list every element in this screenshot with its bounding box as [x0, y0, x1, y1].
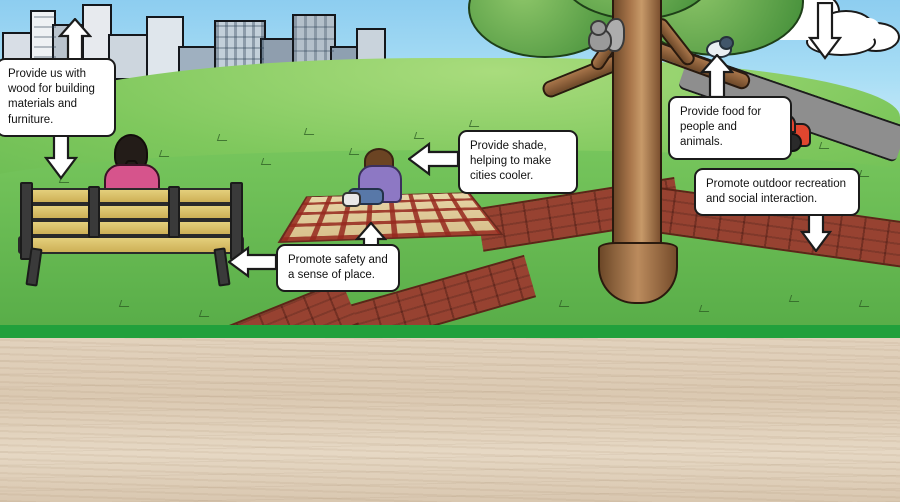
arrow-left-to-bench [228, 246, 278, 278]
callout-recreation[interactable]: Promote outdoor recreation and social in… [694, 168, 860, 216]
park-bench [18, 178, 243, 298]
green-divider-bar [0, 325, 900, 338]
callout-safety[interactable]: Promote safety and a sense of place. [276, 244, 400, 292]
callout-food[interactable]: Provide food for people and animals. [668, 96, 792, 160]
infographic-poster: Provide us with wood for building materi… [0, 0, 900, 502]
arrow-up-to-tree [700, 54, 734, 98]
arrow-left-to-blanket [408, 142, 460, 176]
boy-sitting-on-blanket [354, 148, 404, 208]
bottom-banner: “ ” PLANT TREES because they improve you… [0, 338, 900, 502]
callout-shade[interactable]: Provide shade, helping to make cities co… [458, 130, 578, 194]
arrow-down-to-road [808, 2, 842, 60]
squirrel [588, 20, 622, 50]
arrow-down-to-path [800, 212, 832, 252]
callout-wood[interactable]: Provide us with wood for building materi… [0, 58, 116, 137]
illustration-scene: Provide us with wood for building materi… [0, 0, 900, 326]
